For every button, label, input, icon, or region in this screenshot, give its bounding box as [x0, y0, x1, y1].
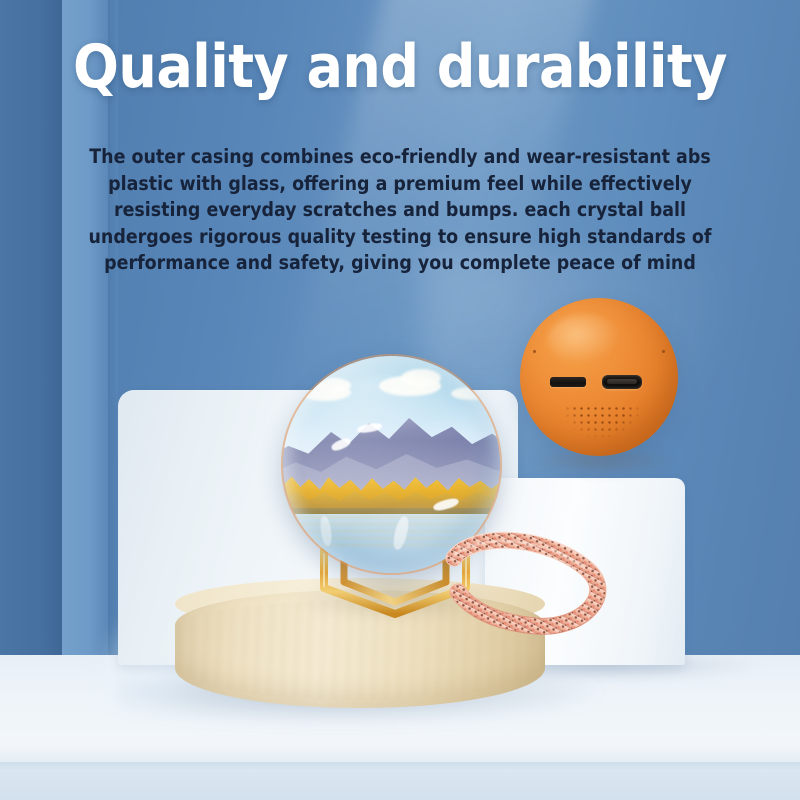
orange-speaker-ball [520, 298, 678, 456]
usb-c-port-icon [602, 375, 642, 389]
product-slide: Quality and durability The outer casing … [0, 0, 800, 800]
pinhole-right-icon [662, 350, 665, 353]
description-line: The outer casing combines eco-friendly a… [55, 144, 745, 171]
wall-left-panel [0, 0, 62, 700]
braided-wrist-strap [430, 530, 630, 640]
pinhole-left-icon [533, 350, 536, 353]
wall-column [62, 0, 108, 700]
page-description: The outer casing combines eco-friendly a… [55, 144, 745, 277]
description-line: plastic with glass, offering a premium f… [55, 171, 745, 198]
description-line: performance and safety, giving you compl… [55, 250, 745, 277]
orange-ball-highlight [548, 314, 621, 365]
tf-card-slot-icon [550, 377, 586, 387]
speaker-grille-icon [564, 405, 640, 440]
floor-front-face [0, 770, 800, 800]
usb-c-port-inner [607, 379, 637, 384]
description-line: undergoes rigorous quality testing to en… [55, 224, 745, 251]
floor-edge [0, 762, 800, 770]
description-line: resisting everyday scratches and bumps. … [55, 197, 745, 224]
page-title: Quality and durability [0, 36, 800, 98]
wall-column-edge [108, 0, 118, 700]
